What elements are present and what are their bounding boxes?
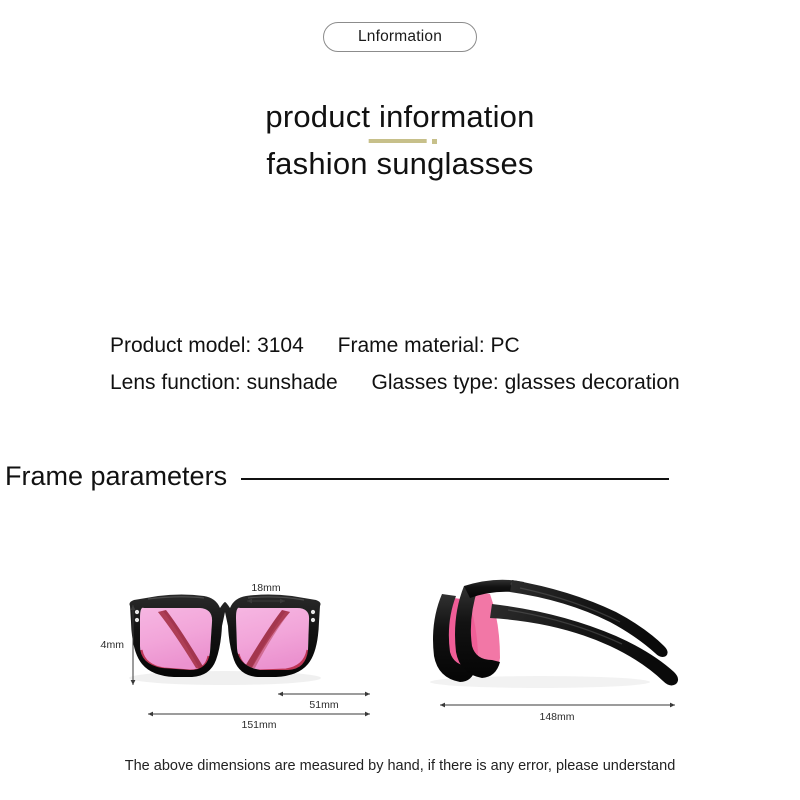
hinge-rivet-icon: [311, 610, 315, 614]
spec-lens-function: Lens function: sunshade: [110, 364, 338, 401]
divider-bar-icon: [369, 139, 427, 143]
front-view-diagram: 18mm 44mm 51mm 151mm: [100, 560, 400, 740]
dimension-lens-width: 51mm: [278, 692, 370, 711]
right-lens: [236, 608, 309, 670]
dimension-temple-length-label: 148mm: [539, 711, 574, 723]
side-view-diagram: 148mm: [420, 560, 710, 740]
dimension-total-width: 151mm: [148, 712, 370, 731]
information-badge: Lnformation: [323, 22, 477, 52]
spec-row: Lens function: sunshade Glasses type: gl…: [110, 364, 800, 401]
frame-parameters-header: Frame parameters: [5, 459, 800, 493]
dimension-temple-length: 148mm: [440, 703, 675, 723]
measurement-disclaimer: The above dimensions are measured by han…: [0, 756, 800, 776]
diagram-area: 18mm 44mm 51mm 151mm: [0, 560, 800, 740]
hinge-rivet-icon: [311, 618, 315, 622]
spec-frame-material: Frame material: PC: [338, 327, 520, 364]
left-lens-group: [140, 608, 212, 670]
spec-glasses-type: Glasses type: glasses decoration: [372, 364, 680, 401]
dimension-total-width-label: 151mm: [241, 719, 276, 731]
page-title: product information: [0, 98, 800, 136]
dimension-height-label: 44mm: [100, 639, 124, 651]
section-title: Frame parameters: [5, 459, 227, 493]
hero-heading: product information fashion sunglasses: [0, 98, 800, 183]
left-lens: [140, 608, 212, 670]
page-subtitle: fashion sunglasses: [0, 145, 800, 183]
hinge-rivet-icon: [135, 618, 139, 622]
spec-row: Product model: 3104 Frame material: PC: [110, 327, 800, 364]
badge-container: Lnformation: [0, 22, 800, 52]
spec-list: Product model: 3104 Frame material: PC L…: [110, 327, 800, 401]
hinge-rivet-icon: [135, 610, 139, 614]
section-rule-line: [241, 478, 669, 480]
dimension-lens-width-label: 51mm: [309, 699, 338, 711]
dimension-height: 44mm: [100, 605, 135, 685]
dimension-bridge-label: 18mm: [251, 582, 280, 594]
spec-product-model: Product model: 3104: [110, 327, 304, 364]
title-divider: [0, 134, 800, 148]
divider-dot-icon: [432, 139, 437, 144]
right-lens-group: [236, 608, 309, 670]
